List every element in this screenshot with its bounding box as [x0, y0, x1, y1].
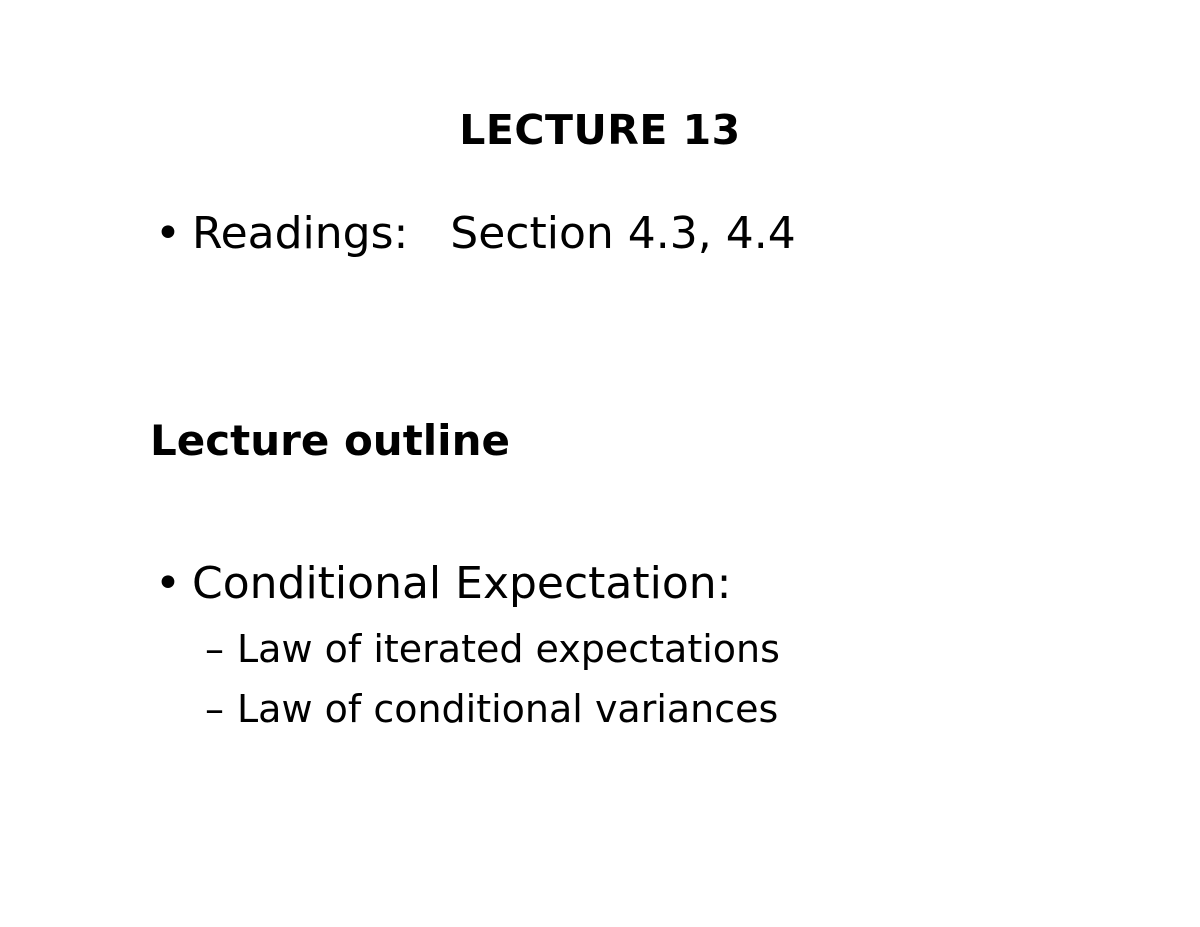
sub-bullet-item: – Law of conditional variances — [205, 690, 778, 728]
bullet-item-readings-label: Readings: Section 4.3, 4.4 — [192, 212, 796, 256]
bullet-item-conditional-expectation: • Conditional Expectation: — [155, 562, 732, 606]
lecture-slide: LECTURE 13 • Readings: Section 4.3, 4.4 … — [0, 0, 1200, 927]
sub-bullet-item-label: Law of conditional variances — [237, 690, 778, 728]
dash-icon: – — [205, 690, 237, 728]
dash-icon: – — [205, 630, 237, 668]
bullet-item-readings: • Readings: Section 4.3, 4.4 — [155, 212, 796, 256]
bullet-item-conditional-expectation-label: Conditional Expectation: — [192, 562, 732, 606]
bullet-dot-icon: • — [155, 212, 192, 256]
section-heading-lecture-outline: Lecture outline — [150, 420, 510, 462]
bullet-dot-icon: • — [155, 562, 192, 606]
sub-bullet-item: – Law of iterated expectations — [205, 630, 780, 668]
sub-bullet-item-label: Law of iterated expectations — [237, 630, 780, 668]
page-title: LECTURE 13 — [0, 108, 1200, 154]
